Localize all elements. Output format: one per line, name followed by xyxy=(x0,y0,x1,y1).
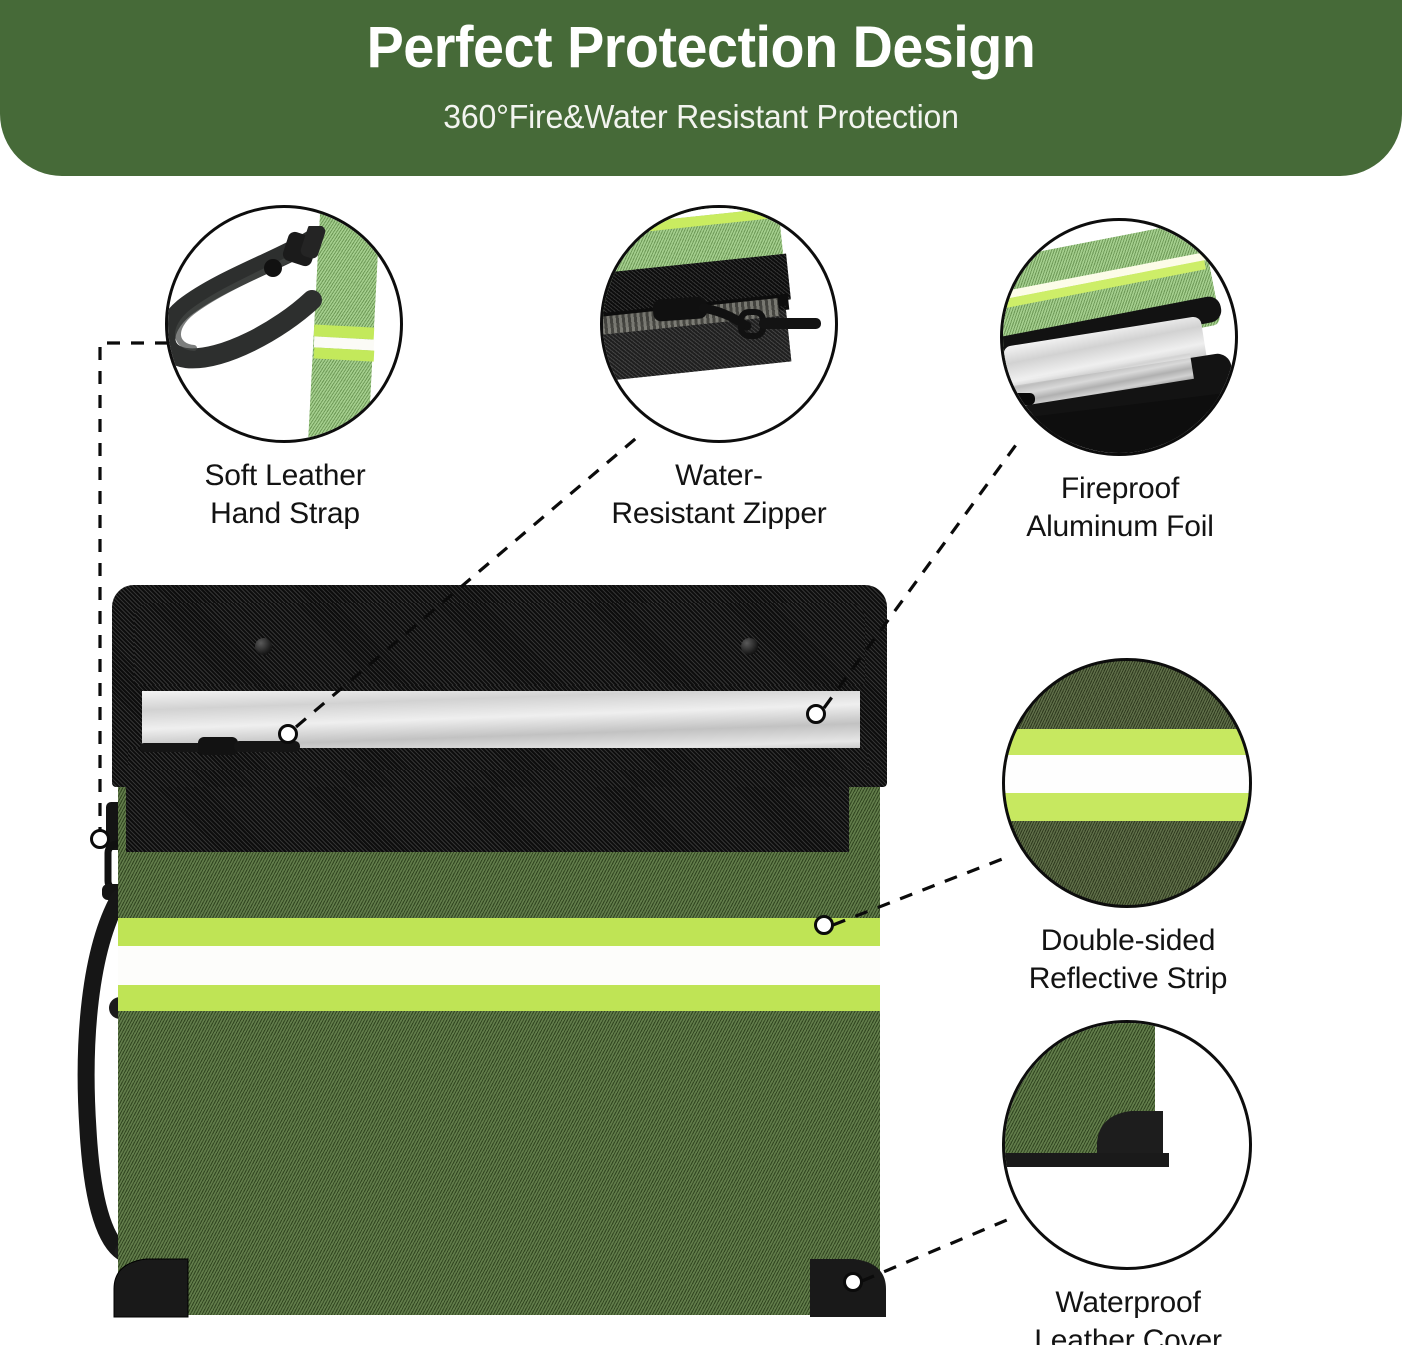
reflective-strip-lime-bottom xyxy=(118,985,880,1011)
callout-label-reflective-strip: Double-sidedReflective Strip xyxy=(978,922,1278,999)
callout-double-sided-reflective-strip: Double-sidedReflective Strip xyxy=(1002,658,1252,998)
reflective-strip-lime-top xyxy=(118,918,880,946)
callout-circle-reflective-strip xyxy=(1002,658,1252,908)
callout-soft-leather-hand-strap: Soft LeatherHand Strap xyxy=(165,205,405,535)
callout-waterproof-leather-cover: WaterproofLeather Cover xyxy=(1002,1020,1252,1345)
reflective-strip-white xyxy=(118,946,880,985)
anchor-dot-zipper xyxy=(278,724,298,744)
callout-circle-hand-strap xyxy=(165,205,403,443)
callout-label-foil: FireproofAluminum Foil xyxy=(984,470,1256,547)
callout-circle-foil xyxy=(1000,218,1238,456)
callout-fireproof-aluminum-foil: FireproofAluminum Foil xyxy=(1000,218,1240,548)
zipper-slider xyxy=(138,729,348,763)
anchor-dot-reflective-strip xyxy=(814,915,834,935)
product-bag-image xyxy=(112,585,887,1315)
callout-circle-zipper xyxy=(600,205,838,443)
callout-label-zipper: Water-Resistant Zipper xyxy=(532,457,906,534)
header-banner: Perfect Protection Design 360°Fire&Water… xyxy=(0,0,1402,176)
page-subtitle: 360°Fire&Water Resistant Protection xyxy=(21,98,1381,136)
callout-circle-leather-cover xyxy=(1002,1020,1252,1270)
anchor-dot-leather-corner xyxy=(843,1272,863,1292)
anchor-dot-foil xyxy=(806,704,826,724)
snap-button-right xyxy=(741,638,758,655)
callout-label-leather-cover: WaterproofLeather Cover xyxy=(978,1284,1278,1345)
infographic-page: Perfect Protection Design 360°Fire&Water… xyxy=(0,0,1402,1345)
snap-button-left xyxy=(255,638,272,655)
anchor-dot-hand-strap xyxy=(90,829,110,849)
page-title: Perfect Protection Design xyxy=(28,16,1374,81)
leather-corner-left xyxy=(112,1253,192,1319)
callout-label-hand-strap: Soft LeatherHand Strap xyxy=(153,457,417,534)
callout-water-resistant-zipper: Water-Resistant Zipper xyxy=(600,205,838,535)
